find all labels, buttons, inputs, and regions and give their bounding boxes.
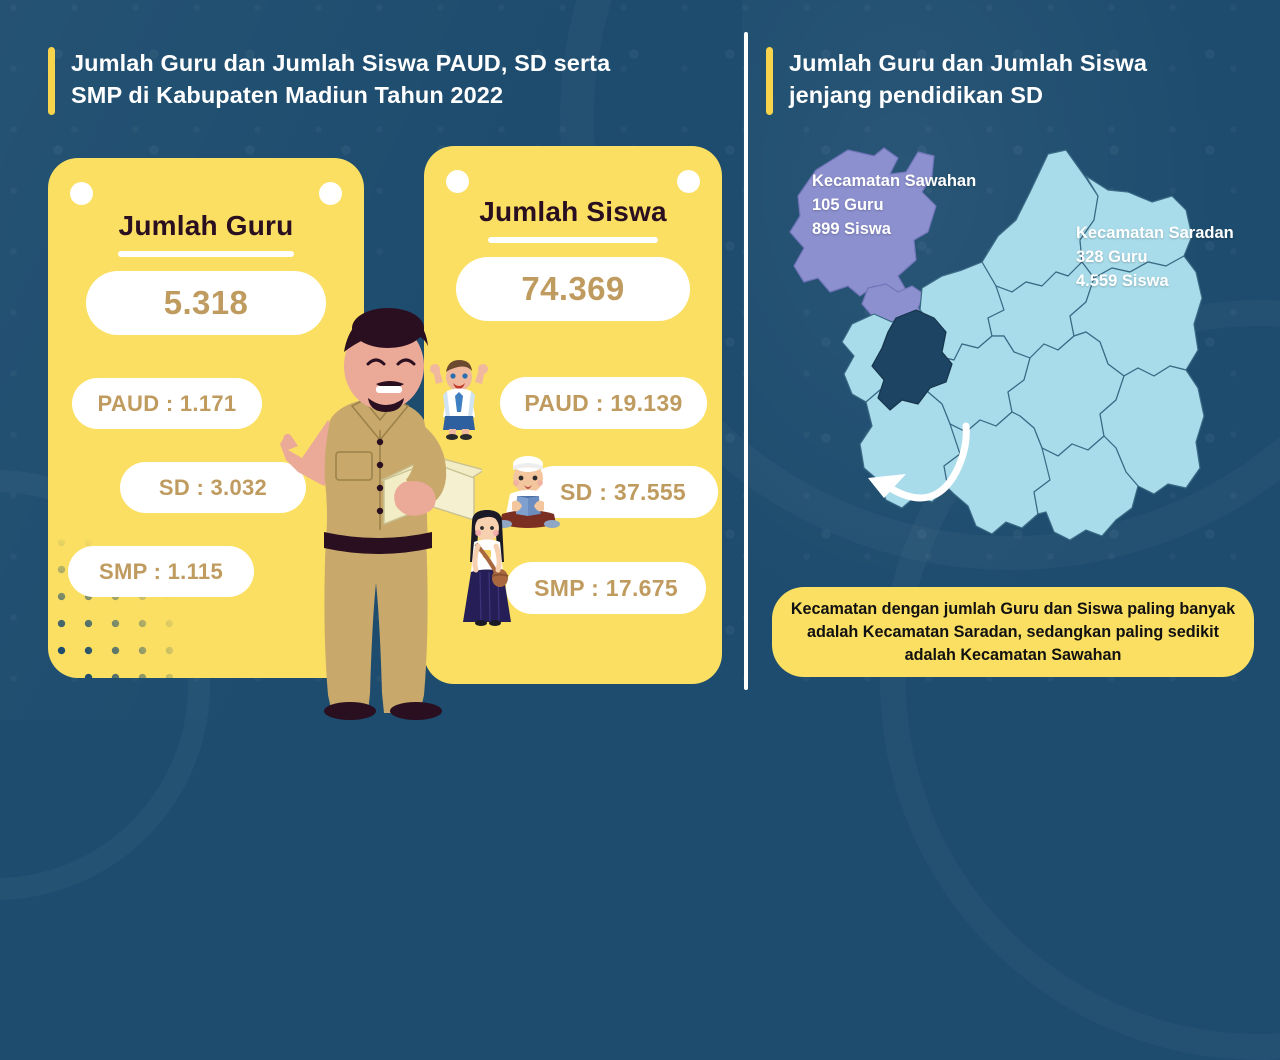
title-accent-bar xyxy=(48,47,55,115)
total-value-siswa: 74.369 xyxy=(456,257,690,321)
map-label-sawahan: Kecamatan Sawahan 105 Guru 899 Siswa xyxy=(812,170,976,241)
punch-hole-right xyxy=(677,170,700,193)
right-panel-title: Jumlah Guru dan Jumlah Siswa jenjang pen… xyxy=(766,47,1147,115)
right-panel-title-text: Jumlah Guru dan Jumlah Siswa jenjang pen… xyxy=(789,47,1147,112)
panel-divider xyxy=(744,32,748,690)
title-accent-bar xyxy=(766,47,773,115)
punch-hole-left xyxy=(446,170,469,193)
map-label-saradan: Kecamatan Saradan 328 Guru 4.559 Siswa xyxy=(1076,222,1234,293)
card-heading-text: Jumlah Guru xyxy=(48,210,364,242)
punch-hole-left xyxy=(70,182,93,205)
card-heading-siswa: Jumlah Siswa xyxy=(424,196,722,243)
level-pill-paud-siswa: PAUD : 19.139 xyxy=(500,377,707,429)
left-panel-title: Jumlah Guru dan Jumlah Siswa PAUD, SD se… xyxy=(48,47,610,115)
card-heading-guru: Jumlah Guru xyxy=(48,210,364,257)
punch-hole-right xyxy=(319,182,342,205)
boy-student-illustration xyxy=(428,358,490,440)
map-caption-text: Kecamatan dengan jumlah Guru dan Siswa p… xyxy=(790,598,1236,667)
level-pill-paud-guru: PAUD : 1.171 xyxy=(72,378,262,429)
heading-rule xyxy=(118,251,294,257)
map-caption-box: Kecamatan dengan jumlah Guru dan Siswa p… xyxy=(772,587,1254,677)
card-heading-text: Jumlah Siswa xyxy=(424,196,722,228)
level-pill-smp-siswa: SMP : 17.675 xyxy=(506,562,706,614)
heading-rule xyxy=(488,237,658,243)
girl-student-illustration xyxy=(456,508,518,626)
level-pill-smp-guru: SMP : 1.115 xyxy=(68,546,254,597)
left-panel-title-text: Jumlah Guru dan Jumlah Siswa PAUD, SD se… xyxy=(71,47,610,112)
